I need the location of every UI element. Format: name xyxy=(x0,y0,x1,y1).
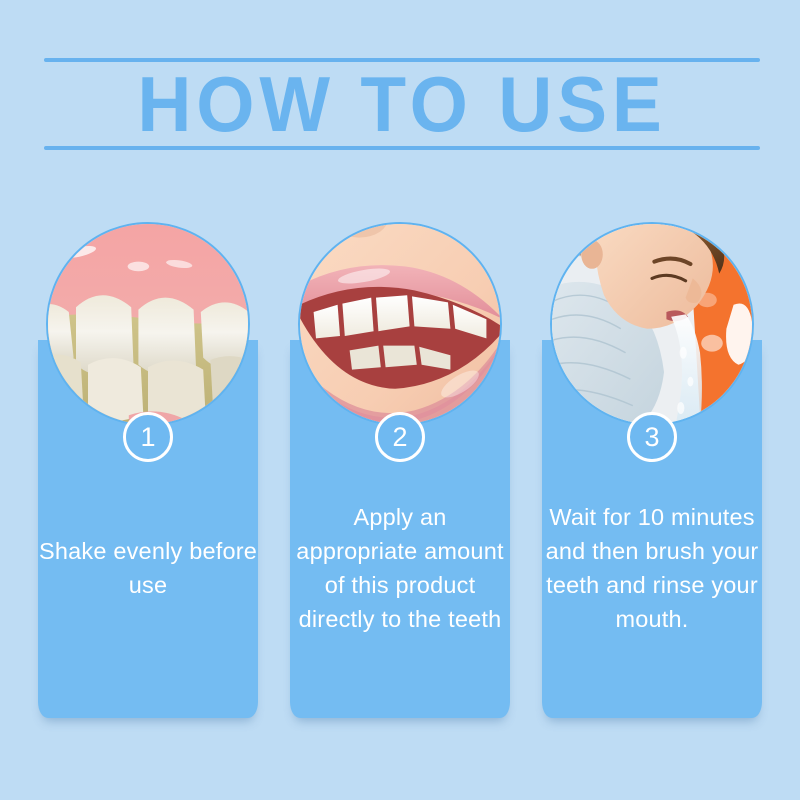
step-badge-2: 2 xyxy=(375,412,425,462)
step-badge-1: 1 xyxy=(123,412,173,462)
page-header: HOW TO USE xyxy=(44,58,760,154)
smiling-mouth-photo xyxy=(298,222,502,426)
step-card-3: 3 Wait for 10 minutes and then brush you… xyxy=(542,222,762,722)
step-caption-1: Shake evenly before use xyxy=(38,534,258,602)
step-caption-3: Wait for 10 minutes and then brush your … xyxy=(542,500,762,636)
steps-container: 1 Shake evenly before use xyxy=(38,222,762,722)
step-card-1: 1 Shake evenly before use xyxy=(38,222,258,722)
woman-rinsing-mouth-photo xyxy=(550,222,754,426)
page-title: HOW TO USE xyxy=(58,62,745,146)
step-caption-2: Apply an appropriate amount of this prod… xyxy=(290,500,510,636)
header-rule-bottom xyxy=(44,146,760,150)
step-badge-3: 3 xyxy=(627,412,677,462)
step-card-2: 2 Apply an appropriate amount of this pr… xyxy=(290,222,510,722)
teeth-with-plaque-photo xyxy=(46,222,250,426)
